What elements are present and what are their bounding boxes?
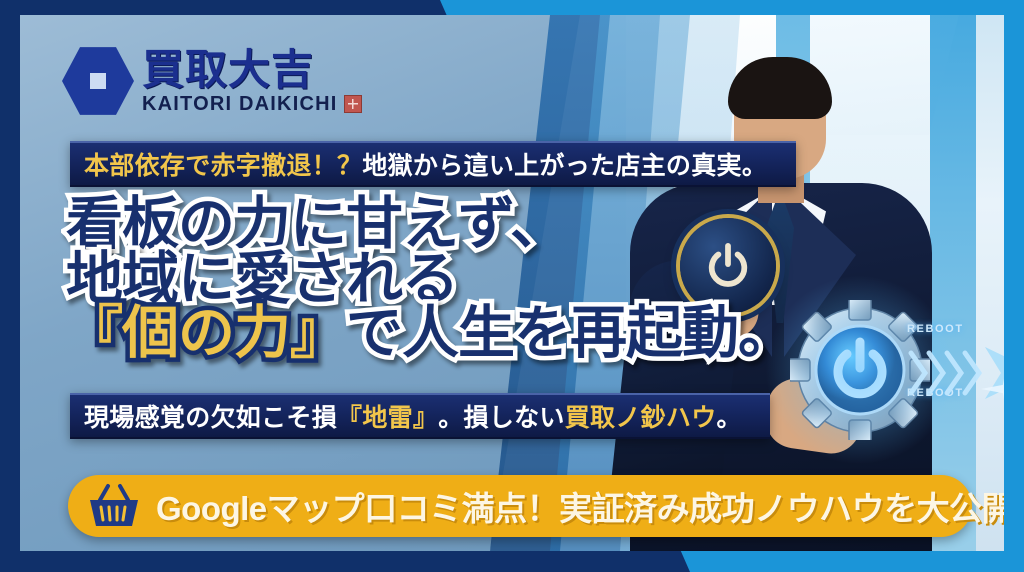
- red-seal-stamp-icon: [344, 95, 362, 113]
- banner-canvas: REBOOT REBOOT 買取大吉 KAITORI DAIKICHI: [0, 0, 1024, 572]
- top-ribbon-banner: 本部依存で赤字撤退！？地獄から這い上がった店主の真実。: [70, 141, 796, 187]
- logo-japanese-name: 買取大吉: [142, 49, 362, 91]
- hair: [728, 57, 832, 119]
- cta-text: Googleマップ口コミ満点！実証済み成功ノウハウを大公開。: [156, 482, 1004, 530]
- top-ribbon-highlight: 本部依存で赤字撤退！？: [84, 146, 362, 182]
- bottom-ribbon-part3: 。損しない: [438, 398, 565, 434]
- headline-line-3-rest: で人生を再起動。: [346, 306, 794, 361]
- brand-logo: 買取大吉 KAITORI DAIKICHI: [62, 45, 362, 117]
- reboot-arrow-graphic: REBOOT REBOOT: [905, 325, 1004, 421]
- reboot-label-top: REBOOT: [907, 323, 964, 335]
- top-ribbon-rest: 地獄から這い上がった店主の真実。: [362, 146, 767, 182]
- logo-english-name: KAITORI DAIKICHI: [142, 94, 362, 114]
- headline-line-3: 『個の力』で人生を再起動。: [66, 306, 794, 361]
- headline-line-3-gold: 『個の力』: [66, 306, 346, 361]
- artwork-area: REBOOT REBOOT 買取大吉 KAITORI DAIKICHI: [20, 15, 1004, 551]
- bottom-ribbon-part5: 。: [717, 398, 742, 434]
- bottom-ribbon-part1: 現場感覚の欠如こそ損: [84, 398, 337, 434]
- hexagon-logo-mark: [62, 45, 134, 117]
- bottom-ribbon-part4: 買取ノ鈔ハウ: [565, 398, 717, 434]
- cta-bar[interactable]: Googleマップ口コミ満点！実証済み成功ノウハウを大公開。: [68, 475, 972, 537]
- headline-line-1: 看板の力に甘えず、: [66, 197, 794, 252]
- reboot-chevron-arrow-icon: [905, 343, 1004, 403]
- shopping-basket-icon: [86, 482, 142, 530]
- bottom-ribbon-part2: 『地雷』: [337, 398, 438, 434]
- bottom-ribbon-banner: 現場感覚の欠如こそ損『地雷』。損しない買取ノ鈔ハウ。: [70, 393, 770, 439]
- headline-line-2: 地域に愛される: [66, 252, 794, 307]
- logo-english-text: KAITORI DAIKICHI: [142, 94, 338, 114]
- headline-block: 看板の力に甘えず、 地域に愛される 『個の力』で人生を再起動。: [66, 197, 794, 361]
